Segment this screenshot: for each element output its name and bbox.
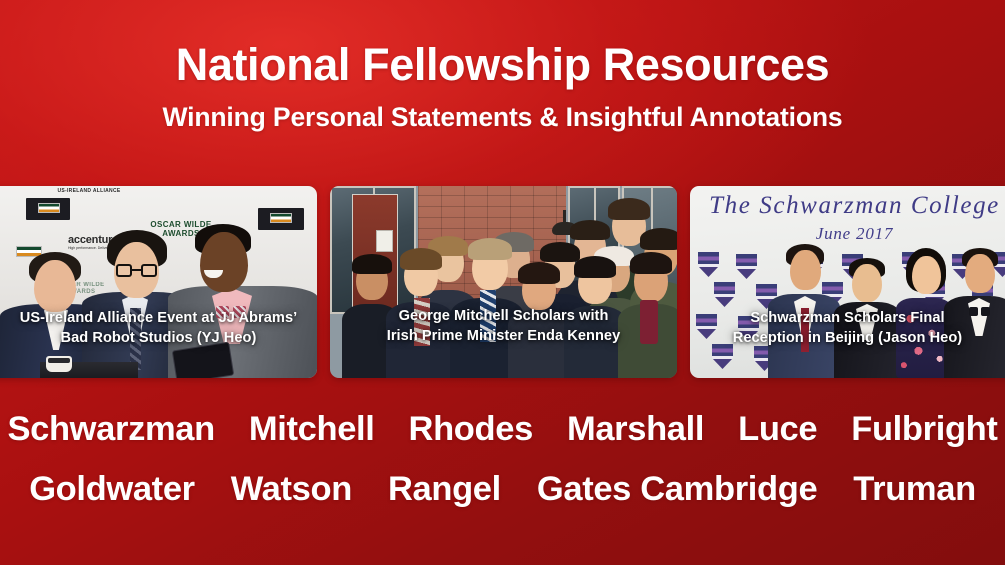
fellowship-name-rhodes: Rhodes: [409, 404, 533, 456]
presentation-slide: National Fellowship Resources Winning Pe…: [0, 0, 1005, 565]
fellowship-name-goldwater: Goldwater: [29, 464, 195, 516]
caption-line-1: US-Ireland Alliance Event at JJ Abrams’: [0, 308, 317, 328]
notice-sign: [376, 230, 393, 252]
caption-line-1: George Mitchell Scholars with: [330, 306, 677, 326]
hair: [468, 238, 512, 260]
fellowship-name-list: Schwarzman Mitchell Rhodes Marshall Luce…: [0, 404, 1005, 516]
caption-line-1: Schwarzman Scholars Final: [690, 308, 1005, 328]
photo-schwarzman-scholars: The Schwarzman College June 2017: [690, 186, 1005, 378]
face: [34, 260, 76, 312]
photo-2-caption: George Mitchell Scholars with Irish Prim…: [330, 306, 677, 346]
hair: [540, 242, 580, 262]
hair: [352, 254, 392, 274]
fellowship-name-schwarzman: Schwarzman: [7, 404, 214, 456]
irish-flag-logo: [38, 203, 60, 213]
photo-2-scene: [330, 186, 677, 378]
coffee-cup: [46, 356, 72, 372]
fellowship-name-luce: Luce: [738, 404, 817, 456]
slide-heading: National Fellowship Resources Winning Pe…: [0, 0, 1005, 132]
fellowship-name-truman: Truman: [853, 464, 976, 516]
hair: [570, 220, 610, 240]
slide-title: National Fellowship Resources: [0, 41, 1005, 88]
hair: [630, 252, 672, 274]
hair: [640, 228, 677, 250]
hair: [400, 248, 442, 270]
hair: [518, 262, 560, 284]
hair: [574, 256, 616, 278]
face: [790, 250, 821, 290]
caption-line-2: Reception in Beijing (Jason Heo): [690, 328, 1005, 348]
caption-line-2: Bad Robot Studios (YJ Heo): [0, 328, 317, 348]
photo-3-scene: The Schwarzman College June 2017: [690, 186, 1005, 378]
fellowship-name-mitchell: Mitchell: [249, 404, 375, 456]
eyeglasses-icon: [116, 264, 157, 277]
fellowship-row-1: Schwarzman Mitchell Rhodes Marshall Luce…: [0, 404, 1005, 456]
photo-strip: US-IRELAND ALLIANCE accenture High perfo…: [0, 186, 1005, 378]
photo-1-scene: US-IRELAND ALLIANCE accenture High perfo…: [0, 186, 317, 378]
fellowship-name-rangel: Rangel: [388, 464, 501, 516]
face: [965, 254, 995, 293]
irish-flag-logo: [270, 213, 292, 223]
photo-us-ireland-alliance: US-IRELAND ALLIANCE accenture High perfo…: [0, 186, 317, 378]
face: [912, 256, 941, 294]
backdrop-title: The Schwarzman College: [690, 192, 1005, 220]
backdrop-subtitle: June 2017: [690, 224, 1005, 244]
fellowship-name-gates-cambridge: Gates Cambridge: [537, 464, 817, 516]
photo-george-mitchell-scholars: George Mitchell Scholars with Irish Prim…: [330, 186, 677, 378]
face: [852, 264, 882, 302]
face: [200, 232, 248, 292]
hair: [608, 198, 650, 220]
fellowship-name-fulbright: Fulbright: [851, 404, 997, 456]
photo-1-caption: US-Ireland Alliance Event at JJ Abrams’ …: [0, 308, 317, 348]
slide-subtitle: Winning Personal Statements & Insightful…: [0, 103, 1005, 132]
photo-3-caption: Schwarzman Scholars Final Reception in B…: [690, 308, 1005, 348]
fellowship-row-2: Goldwater Watson Rangel Gates Cambridge …: [0, 464, 1005, 516]
fellowship-name-watson: Watson: [231, 464, 352, 516]
caption-line-2: Irish Prime Minister Enda Kenney: [330, 326, 677, 346]
fellowship-name-marshall: Marshall: [567, 404, 704, 456]
backdrop-logo-us-ireland-alliance: US-IRELAND ALLIANCE: [44, 189, 134, 195]
